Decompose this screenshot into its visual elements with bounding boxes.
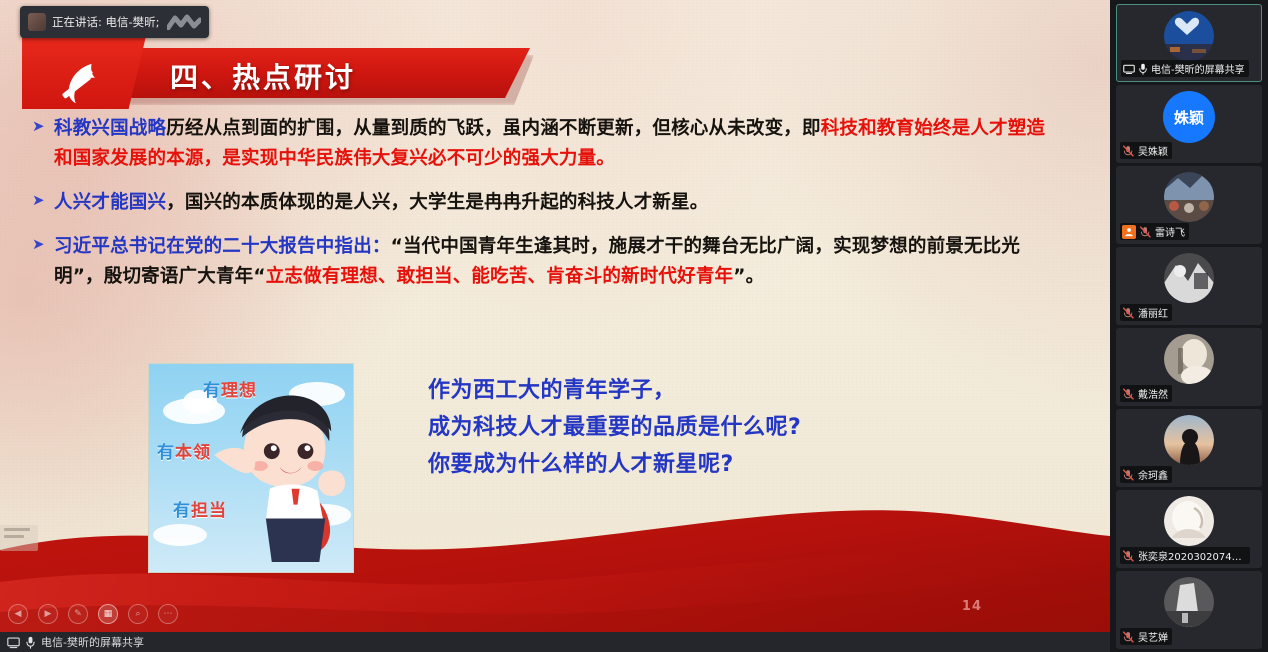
microphone-icon — [1138, 63, 1148, 75]
zoom-button[interactable]: ⌕ — [128, 604, 148, 624]
arrow-bullet-icon: ➤ — [32, 119, 45, 134]
share-status-label: 电信-樊昕的屏幕共享 — [41, 634, 144, 650]
presentation-controls[interactable]: ◀ ▶ ✎ ▦ ⌕ ⋯ — [8, 604, 178, 624]
bullet-item: ➤ 人兴才能国兴，国兴的本质体现的是人兴，大学生是冉冉升起的科技人才新星。 — [28, 188, 1058, 218]
bullet-item: ➤ 习近平总书记在党的二十大报告中指出：“当代中国青年生逢其时，施展才干的舞台无… — [28, 232, 1058, 292]
microphone-muted-icon — [1122, 469, 1135, 481]
shared-slide-stage: 14 四、热点研讨 ➤ 科教兴国战略历经从点到面的扩围，从量到质的飞跃，虽内涵不… — [0, 0, 1110, 652]
avatar — [1164, 496, 1214, 546]
microphone-muted-icon — [1139, 226, 1152, 238]
speaker-avatar-thumbnail — [28, 13, 46, 31]
question-line: 作为西工大的青年学子， — [428, 372, 801, 409]
participant-name: 戴浩然 — [1138, 386, 1168, 401]
microphone-muted-icon — [1122, 631, 1135, 643]
host-badge-icon — [1122, 225, 1136, 239]
slide-page-number: 14 — [962, 599, 982, 614]
participant-label: 电信-樊昕的屏幕共享 — [1121, 60, 1249, 77]
participant-name: 电信-樊昕的屏幕共享 — [1151, 61, 1245, 76]
participant-tile[interactable]: 张奕泉2020302074电子… — [1116, 490, 1262, 568]
cartoon-caption: 有担当 — [173, 496, 227, 521]
participant-tile[interactable]: 余珂鑫 — [1116, 409, 1262, 487]
bullet-item: ➤ 科教兴国战略历经从点到面的扩围，从量到质的飞跃，虽内涵不断更新，但核心从未改… — [28, 114, 1058, 174]
flying-boy-illustration: 有理想 有本领 有担当 — [148, 363, 354, 573]
participant-label: 吴艺婵 — [1120, 628, 1172, 645]
edge-tooltip-chip — [0, 525, 38, 551]
chip-line — [4, 528, 30, 531]
audio-wave-icon — [167, 14, 201, 30]
participant-name: 吴艺婵 — [1138, 629, 1168, 644]
participant-tile[interactable]: 姝颖 吴姝颖 — [1116, 85, 1262, 163]
participant-label: 余珂鑫 — [1120, 466, 1172, 483]
participant-name: 潘丽红 — [1138, 305, 1168, 320]
participant-label: 张奕泉2020302074电子… — [1120, 547, 1250, 564]
microphone-muted-icon — [1122, 388, 1135, 400]
chip-line — [4, 535, 24, 538]
bullet-run: 科教兴国战略 — [54, 118, 166, 139]
participant-tile-screen-share[interactable]: 电信-樊昕的屏幕共享 — [1116, 4, 1262, 82]
screen-share-icon — [1123, 63, 1135, 75]
microphone-muted-icon — [1122, 145, 1135, 157]
bullet-run: 立志做有理想、敢担当、能吃苦、肯奋斗的新时代好青年 — [266, 266, 734, 287]
slide-title-banner: 四、热点研讨 — [30, 48, 530, 103]
more-options-button[interactable]: ⋯ — [158, 604, 178, 624]
avatar — [1164, 577, 1214, 627]
participant-name: 吴姝颖 — [1138, 143, 1168, 158]
speaking-indicator: 正在讲话: 电信-樊昕; — [20, 6, 209, 38]
discussion-questions: 作为西工大的青年学子， 成为科技人才最重要的品质是什么呢? 你要成为什么样的人才… — [428, 372, 801, 483]
share-status-bar: 电信-樊昕的屏幕共享 — [0, 632, 1110, 652]
participant-label: 潘丽红 — [1120, 304, 1172, 321]
participant-name: 雷诗飞 — [1155, 224, 1185, 239]
bullet-run: ”。 — [733, 266, 764, 287]
prev-slide-button[interactable]: ◀ — [8, 604, 28, 624]
participant-tile[interactable]: 雷诗飞 — [1116, 166, 1262, 244]
meeting-screen-share-view: 14 四、热点研讨 ➤ 科教兴国战略历经从点到面的扩围，从量到质的飞跃，虽内涵不… — [0, 0, 1268, 652]
participant-tile[interactable]: 潘丽红 — [1116, 247, 1262, 325]
avatar — [1164, 172, 1214, 222]
avatar — [1164, 253, 1214, 303]
participant-tile[interactable]: 戴浩然 — [1116, 328, 1262, 406]
bullet-text: 习近平总书记在党的二十大报告中指出：“当代中国青年生逢其时，施展才干的舞台无比广… — [54, 232, 1058, 292]
question-line: 成为科技人才最重要的品质是什么呢? — [428, 409, 801, 446]
bullet-run: 人兴才能国兴 — [54, 192, 166, 213]
avatar — [1164, 334, 1214, 384]
bullet-text: 人兴才能国兴，国兴的本质体现的是人兴，大学生是冉冉升起的科技人才新星。 — [54, 188, 1058, 218]
microphone-muted-icon — [1122, 307, 1135, 319]
avatar — [1164, 415, 1214, 465]
bullet-run: ，国兴的本质体现的是人兴，大学生是冉冉升起的科技人才新星。 — [166, 192, 708, 213]
arrow-bullet-icon: ➤ — [32, 237, 45, 252]
slide-bullet-list: ➤ 科教兴国战略历经从点到面的扩围，从量到质的飞跃，虽内涵不断更新，但核心从未改… — [28, 114, 1058, 306]
next-slide-button[interactable]: ▶ — [38, 604, 58, 624]
participant-label: 雷诗飞 — [1120, 223, 1189, 240]
screen-share-icon — [7, 636, 20, 649]
cartoon-caption: 有理想 — [203, 376, 257, 401]
participant-label: 吴姝颖 — [1120, 142, 1172, 159]
participant-name: 张奕泉2020302074电子… — [1138, 548, 1246, 563]
slide-title: 四、热点研讨 — [170, 56, 356, 96]
avatar — [1164, 11, 1214, 61]
bullet-run: 历经从点到面的扩围，从量到质的飞跃，虽内涵不断更新，但核心从未改变，即 — [166, 118, 821, 139]
bullet-run: 习近平总书记在党的二十大报告中指出： — [54, 236, 391, 257]
bullet-text: 科教兴国战略历经从点到面的扩围，从量到质的飞跃，虽内涵不断更新，但核心从未改变，… — [54, 114, 1058, 174]
avatar: 姝颖 — [1163, 91, 1215, 143]
arrow-bullet-icon: ➤ — [32, 193, 45, 208]
participant-rail[interactable]: 电信-樊昕的屏幕共享 姝颖 吴姝颖 — [1110, 0, 1268, 652]
hammer-and-sickle-icon — [52, 56, 110, 112]
participant-name: 余珂鑫 — [1138, 467, 1168, 482]
participant-label: 戴浩然 — [1120, 385, 1172, 402]
slide-picker-button[interactable]: ▦ — [98, 604, 118, 624]
pen-tool-button[interactable]: ✎ — [68, 604, 88, 624]
question-line: 你要成为什么样的人才新星呢? — [428, 446, 801, 483]
microphone-icon — [25, 636, 36, 649]
microphone-muted-icon — [1122, 550, 1135, 562]
cartoon-caption: 有本领 — [157, 438, 211, 463]
participant-tile[interactable]: 吴艺婵 — [1116, 571, 1262, 649]
speaking-label: 正在讲话: 电信-樊昕; — [52, 14, 160, 30]
